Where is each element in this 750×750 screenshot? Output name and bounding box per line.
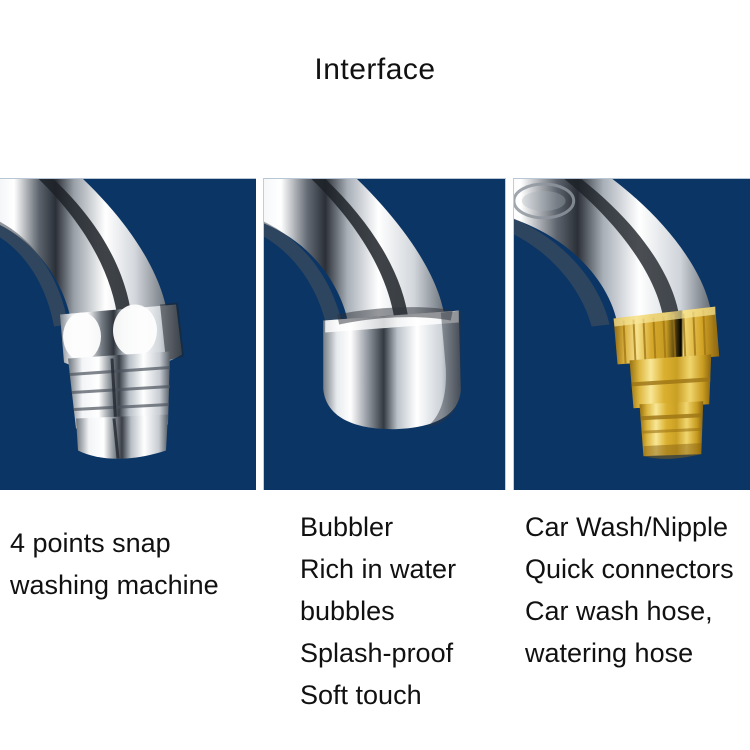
caption-line: Splash-proof bbox=[300, 632, 456, 674]
caption-row: 4 points snap washing machine Bubbler Ri… bbox=[0, 500, 750, 750]
faucet-image-4-point-snap bbox=[0, 179, 256, 490]
page-title: Interface bbox=[0, 55, 750, 85]
caption-line: Quick connectors bbox=[525, 548, 734, 590]
product-panel-car-wash-nipple[interactable] bbox=[513, 178, 750, 490]
caption-car-wash-nipple: Car Wash/Nipple Quick connectors Car was… bbox=[525, 500, 734, 674]
caption-bubbler: Bubbler Rich in water bubbles Splash-pro… bbox=[300, 500, 456, 716]
caption-line: watering hose bbox=[525, 632, 734, 674]
caption-line: Rich in water bbox=[300, 548, 456, 590]
faucet-image-bubbler bbox=[264, 179, 505, 490]
product-panel-bubbler[interactable] bbox=[263, 178, 506, 490]
caption-line: Soft touch bbox=[300, 674, 456, 716]
product-panel-4-point-snap[interactable] bbox=[0, 178, 256, 490]
faucet-image-car-wash-nipple bbox=[514, 179, 750, 490]
caption-line: 4 points snap bbox=[10, 522, 219, 564]
caption-line: bubbles bbox=[300, 590, 456, 632]
caption-line: Car Wash/Nipple bbox=[525, 506, 734, 548]
product-panel-row bbox=[0, 178, 750, 490]
caption-4-point-snap: 4 points snap washing machine bbox=[10, 500, 219, 606]
caption-line: Bubbler bbox=[300, 506, 456, 548]
caption-line: washing machine bbox=[10, 564, 219, 606]
caption-line: Car wash hose, bbox=[525, 590, 734, 632]
